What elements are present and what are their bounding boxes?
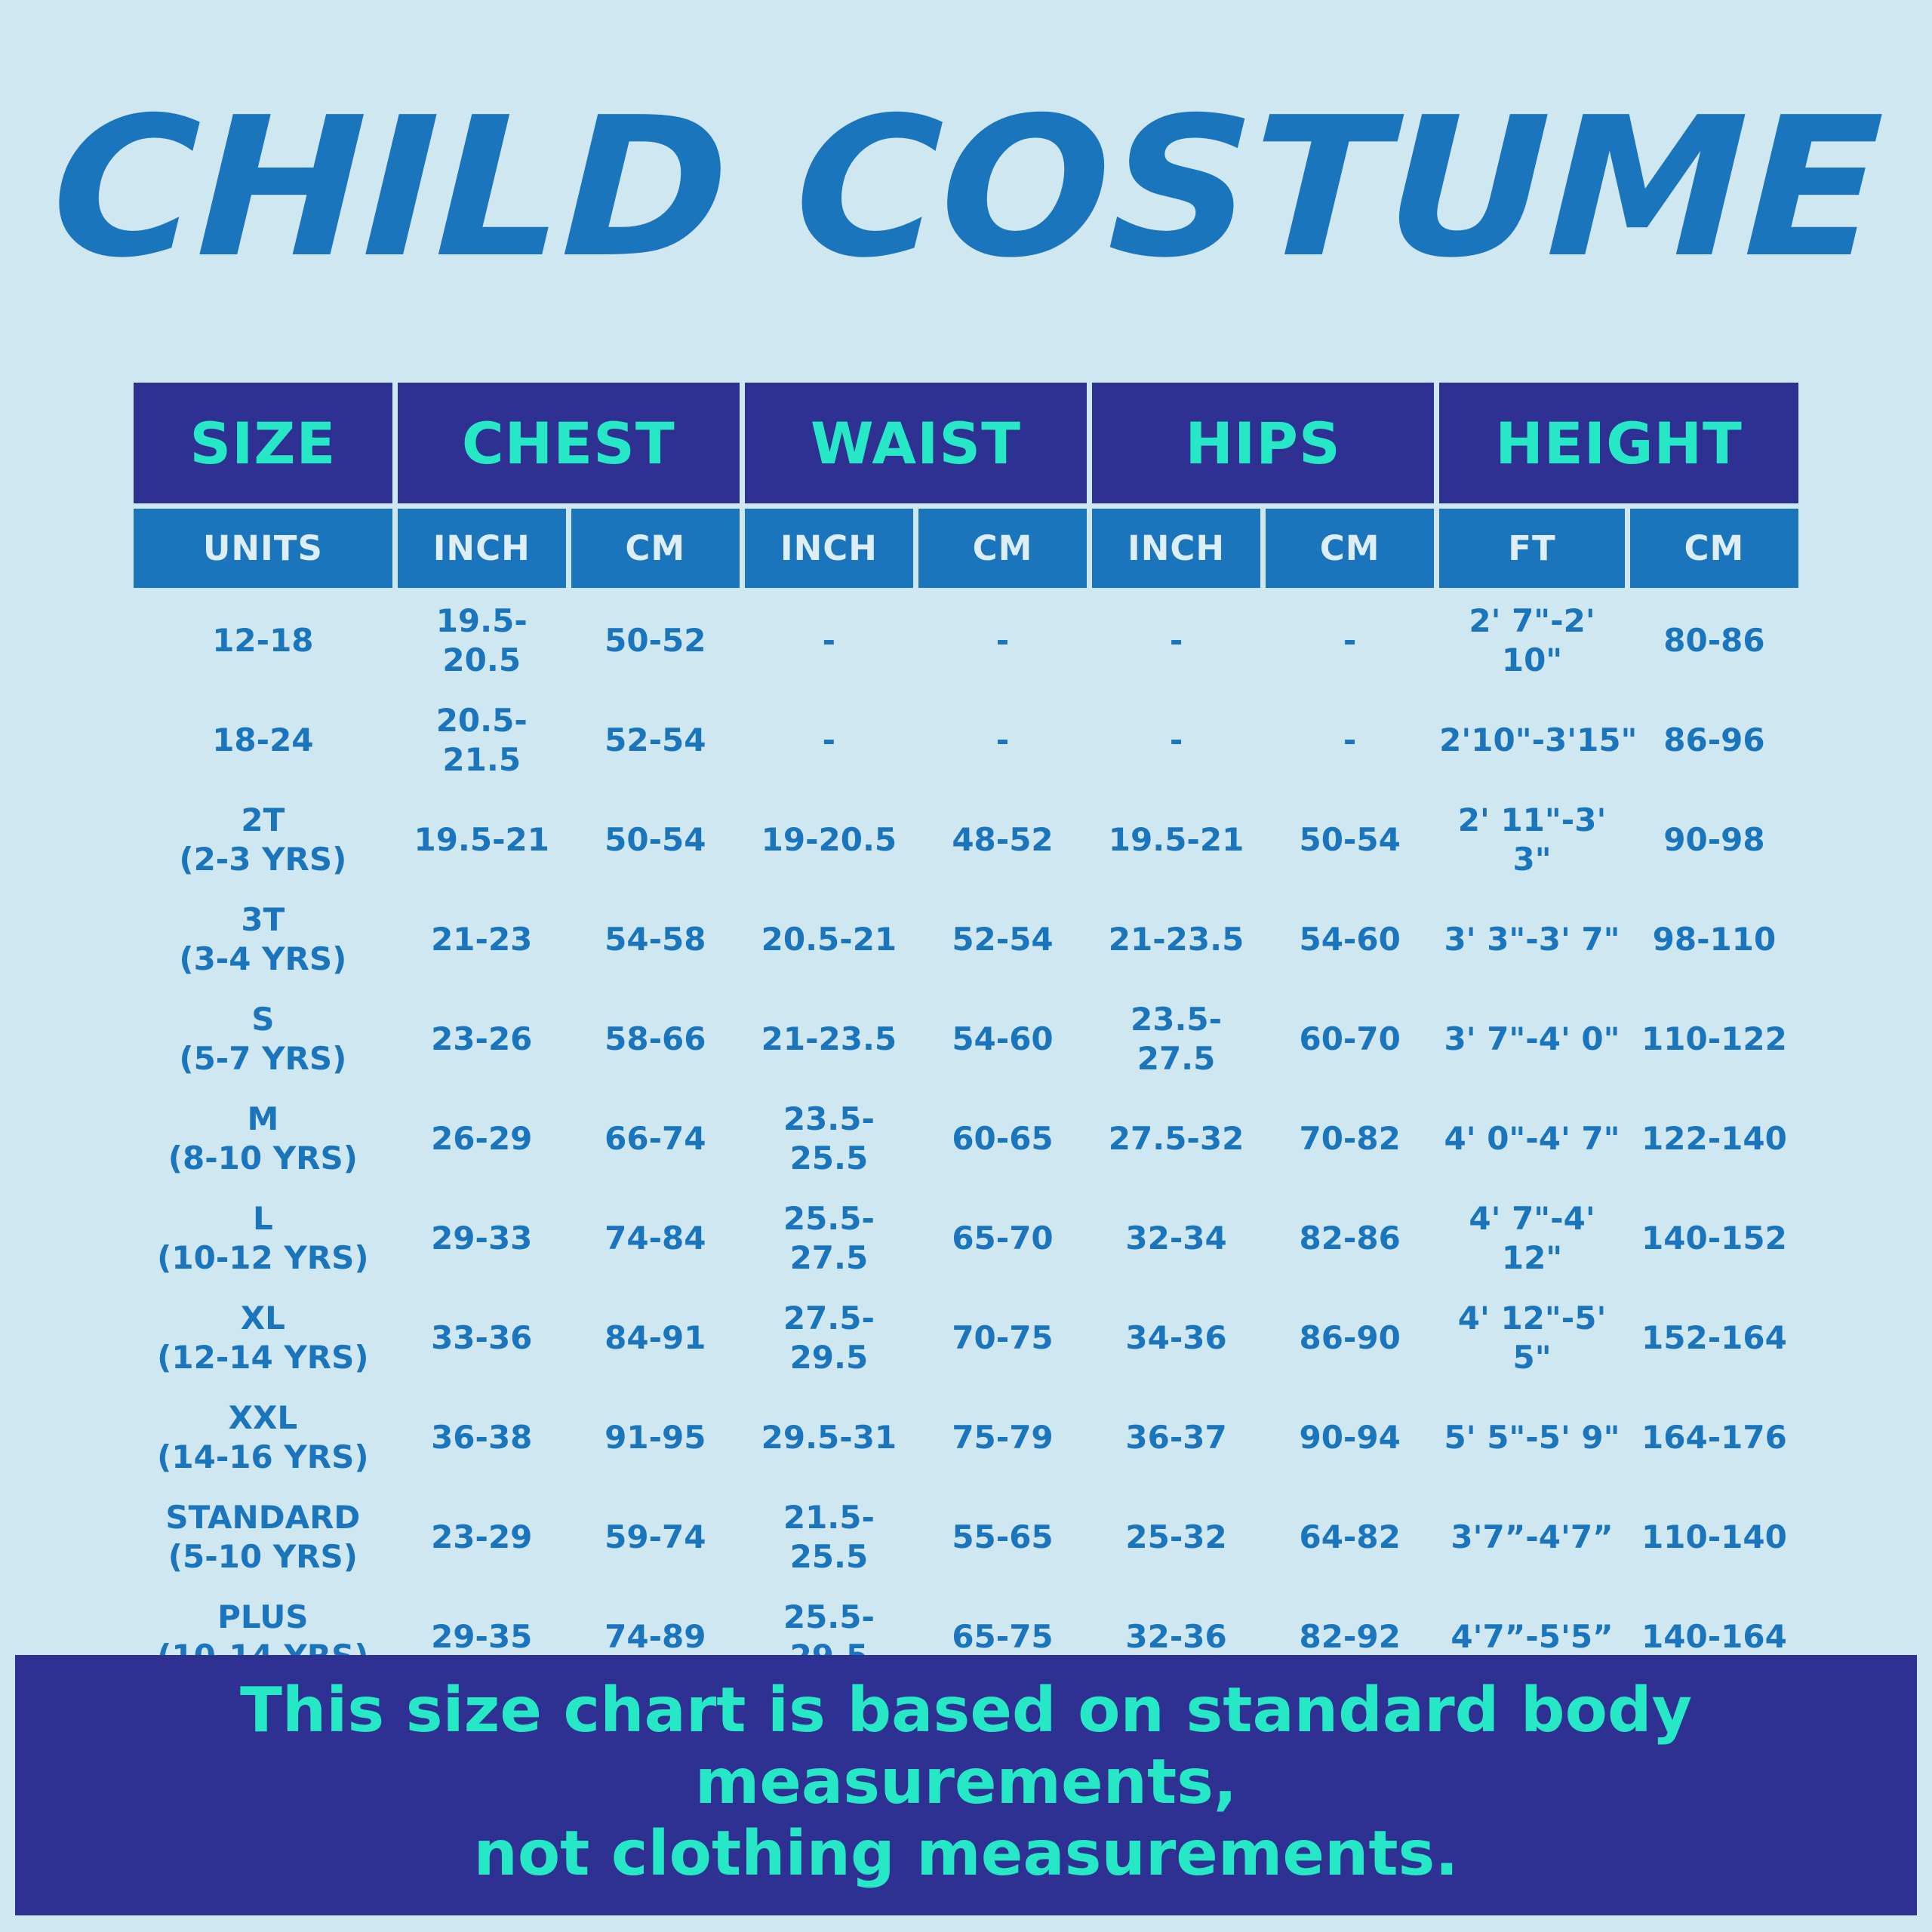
table-row: STANDARD(5-10 YRS)23-2959-7421.5-25.555-… bbox=[134, 1490, 1798, 1584]
cell-waist-inch: - bbox=[745, 693, 913, 787]
table-row: 3T(3-4 YRS)21-2354-5820.5-2152-5421-23.5… bbox=[134, 892, 1798, 986]
unit-header-height-ft: FT bbox=[1439, 509, 1625, 588]
cell-hips-cm: 60-70 bbox=[1266, 992, 1434, 1086]
cell-chest-cm: 91-95 bbox=[571, 1390, 740, 1484]
row-size-label: S(5-7 YRS) bbox=[134, 992, 392, 1086]
size-age-range: (12-14 YRS) bbox=[134, 1338, 392, 1377]
page-title: CHILD COSTUME bbox=[49, 100, 1884, 278]
size-age-range: (8-10 YRS) bbox=[134, 1139, 392, 1177]
cell-height-ft: 5' 5"-5' 9" bbox=[1439, 1390, 1625, 1484]
cell-chest-cm: 84-91 bbox=[571, 1291, 740, 1385]
cell-chest-cm: 50-54 bbox=[571, 792, 740, 887]
cell-height-cm: 110-140 bbox=[1630, 1490, 1798, 1584]
cell-height-cm: 110-122 bbox=[1630, 992, 1798, 1086]
size-name: 12-18 bbox=[134, 621, 392, 660]
cell-hips-inch: 23.5-27.5 bbox=[1092, 992, 1260, 1086]
cell-height-ft: 4' 0"-4' 7" bbox=[1439, 1091, 1625, 1186]
table-row: 12-1819.5-20.550-52----2' 7"-2' 10"80-86 bbox=[134, 593, 1798, 688]
cell-height-ft: 2' 11"-3' 3" bbox=[1439, 792, 1625, 887]
cell-height-cm: 122-140 bbox=[1630, 1091, 1798, 1186]
size-name: XXL bbox=[134, 1398, 392, 1437]
cell-hips-cm: 50-54 bbox=[1266, 792, 1434, 887]
cell-waist-inch: 27.5-29.5 bbox=[745, 1291, 913, 1385]
group-header-waist: WAIST bbox=[745, 383, 1087, 503]
cell-chest-inch: 26-29 bbox=[398, 1091, 566, 1186]
table-row: M(8-10 YRS)26-2966-7423.5-25.560-6527.5-… bbox=[134, 1091, 1798, 1186]
row-size-label: XXL(14-16 YRS) bbox=[134, 1390, 392, 1484]
size-name: S bbox=[134, 1000, 392, 1038]
row-size-label: XL(12-14 YRS) bbox=[134, 1291, 392, 1385]
cell-hips-inch: 21-23.5 bbox=[1092, 892, 1260, 986]
cell-waist-inch: 29.5-31 bbox=[745, 1390, 913, 1484]
cell-hips-cm: 86-90 bbox=[1266, 1291, 1434, 1385]
size-age-range: (5-10 YRS) bbox=[134, 1537, 392, 1576]
table-row: L(10-12 YRS)29-3374-8425.5-27.565-7032-3… bbox=[134, 1191, 1798, 1285]
cell-waist-cm: 60-65 bbox=[918, 1091, 1087, 1186]
row-size-label: L(10-12 YRS) bbox=[134, 1191, 392, 1285]
unit-header-chest-inch: INCH bbox=[398, 509, 566, 588]
cell-hips-cm: 54-60 bbox=[1266, 892, 1434, 986]
cell-height-ft: 3' 7"-4' 0" bbox=[1439, 992, 1625, 1086]
size-chart-body: 12-1819.5-20.550-52----2' 7"-2' 10"80-86… bbox=[134, 593, 1798, 1684]
cell-hips-cm: 70-82 bbox=[1266, 1091, 1434, 1186]
cell-height-ft: 4' 7"-4' 12" bbox=[1439, 1191, 1625, 1285]
size-chart-table: SIZE CHEST WAIST HIPS HEIGHT UNITS INCH … bbox=[128, 377, 1804, 1689]
cell-hips-inch: 25-32 bbox=[1092, 1490, 1260, 1584]
size-age-range: (2-3 YRS) bbox=[134, 840, 392, 878]
cell-chest-inch: 29-33 bbox=[398, 1191, 566, 1285]
table-row: S(5-7 YRS)23-2658-6621-23.554-6023.5-27.… bbox=[134, 992, 1798, 1086]
row-size-label: 18-24 bbox=[134, 693, 392, 787]
size-name: M bbox=[134, 1100, 392, 1138]
cell-chest-cm: 59-74 bbox=[571, 1490, 740, 1584]
unit-header-waist-cm: CM bbox=[918, 509, 1087, 588]
cell-height-cm: 152-164 bbox=[1630, 1291, 1798, 1385]
cell-hips-inch: - bbox=[1092, 593, 1260, 688]
row-size-label: 3T(3-4 YRS) bbox=[134, 892, 392, 986]
size-name: 3T bbox=[134, 900, 392, 939]
cell-hips-inch: 19.5-21 bbox=[1092, 792, 1260, 887]
table-row: 2T(2-3 YRS)19.5-2150-5419-20.548-5219.5-… bbox=[134, 792, 1798, 887]
cell-waist-inch: 21-23.5 bbox=[745, 992, 913, 1086]
cell-chest-cm: 52-54 bbox=[571, 693, 740, 787]
cell-waist-cm: 55-65 bbox=[918, 1490, 1087, 1584]
cell-height-ft: 3' 3"-3' 7" bbox=[1439, 892, 1625, 986]
group-header-height: HEIGHT bbox=[1439, 383, 1798, 503]
cell-waist-cm: 65-70 bbox=[918, 1191, 1087, 1285]
cell-hips-cm: - bbox=[1266, 593, 1434, 688]
size-name: PLUS bbox=[134, 1598, 392, 1636]
cell-chest-inch: 19.5-21 bbox=[398, 792, 566, 887]
size-age-range: (5-7 YRS) bbox=[134, 1039, 392, 1078]
row-size-label: M(8-10 YRS) bbox=[134, 1091, 392, 1186]
cell-hips-inch: 27.5-32 bbox=[1092, 1091, 1260, 1186]
cell-waist-cm: - bbox=[918, 693, 1087, 787]
size-name: STANDARD bbox=[134, 1498, 392, 1537]
size-chart-container: SIZE CHEST WAIST HIPS HEIGHT UNITS INCH … bbox=[0, 377, 1932, 1689]
size-name: XL bbox=[134, 1299, 392, 1337]
group-header-size: SIZE bbox=[134, 383, 392, 503]
row-size-label: STANDARD(5-10 YRS) bbox=[134, 1490, 392, 1584]
size-name: 18-24 bbox=[134, 721, 392, 759]
cell-chest-inch: 21-23 bbox=[398, 892, 566, 986]
size-age-range: (3-4 YRS) bbox=[134, 940, 392, 978]
cell-waist-inch: 23.5-25.5 bbox=[745, 1091, 913, 1186]
row-size-label: 2T(2-3 YRS) bbox=[134, 792, 392, 887]
cell-hips-inch: - bbox=[1092, 693, 1260, 787]
cell-hips-cm: - bbox=[1266, 693, 1434, 787]
cell-height-cm: 90-98 bbox=[1630, 792, 1798, 887]
table-row: 18-2420.5-21.552-54----2'10"-3'15"86-96 bbox=[134, 693, 1798, 787]
cell-hips-cm: 82-86 bbox=[1266, 1191, 1434, 1285]
size-name: L bbox=[134, 1199, 392, 1238]
cell-waist-cm: 75-79 bbox=[918, 1390, 1087, 1484]
cell-waist-cm: 70-75 bbox=[918, 1291, 1087, 1385]
group-header-chest: CHEST bbox=[398, 383, 740, 503]
size-name: 2T bbox=[134, 801, 392, 839]
cell-waist-cm: 52-54 bbox=[918, 892, 1087, 986]
cell-height-ft: 4' 12"-5' 5" bbox=[1439, 1291, 1625, 1385]
cell-chest-cm: 58-66 bbox=[571, 992, 740, 1086]
row-size-label: 12-18 bbox=[134, 593, 392, 688]
cell-chest-inch: 36-38 bbox=[398, 1390, 566, 1484]
cell-chest-inch: 19.5-20.5 bbox=[398, 593, 566, 688]
cell-height-cm: 164-176 bbox=[1630, 1390, 1798, 1484]
cell-chest-cm: 66-74 bbox=[571, 1091, 740, 1186]
group-header-hips: HIPS bbox=[1092, 383, 1434, 503]
unit-header-waist-inch: INCH bbox=[745, 509, 913, 588]
cell-hips-cm: 64-82 bbox=[1266, 1490, 1434, 1584]
unit-header-chest-cm: CM bbox=[571, 509, 740, 588]
title-area: CHILD COSTUME bbox=[0, 0, 1932, 377]
cell-waist-cm: - bbox=[918, 593, 1087, 688]
cell-waist-inch: 21.5-25.5 bbox=[745, 1490, 913, 1584]
cell-chest-inch: 33-36 bbox=[398, 1291, 566, 1385]
footer-note-line-1: This size chart is based on standard bod… bbox=[45, 1675, 1887, 1818]
footer-note-line-2: not clothing measurements. bbox=[45, 1818, 1887, 1890]
cell-height-ft: 2' 7"-2' 10" bbox=[1439, 593, 1625, 688]
cell-height-ft: 3'7”-4'7” bbox=[1439, 1490, 1625, 1584]
cell-chest-cm: 74-84 bbox=[571, 1191, 740, 1285]
cell-height-cm: 140-152 bbox=[1630, 1191, 1798, 1285]
cell-chest-inch: 23-26 bbox=[398, 992, 566, 1086]
cell-waist-inch: - bbox=[745, 593, 913, 688]
cell-chest-cm: 54-58 bbox=[571, 892, 740, 986]
cell-waist-inch: 19-20.5 bbox=[745, 792, 913, 887]
size-age-range: (14-16 YRS) bbox=[134, 1438, 392, 1476]
footer-note-banner: This size chart is based on standard bod… bbox=[15, 1655, 1917, 1915]
cell-height-ft: 2'10"-3'15" bbox=[1439, 693, 1625, 787]
cell-height-cm: 98-110 bbox=[1630, 892, 1798, 986]
unit-header-row: UNITS INCH CM INCH CM INCH CM FT CM bbox=[134, 509, 1798, 588]
cell-hips-cm: 90-94 bbox=[1266, 1390, 1434, 1484]
group-header-row: SIZE CHEST WAIST HIPS HEIGHT bbox=[134, 383, 1798, 503]
cell-waist-inch: 25.5-27.5 bbox=[745, 1191, 913, 1285]
cell-waist-cm: 48-52 bbox=[918, 792, 1087, 887]
unit-header-hips-inch: INCH bbox=[1092, 509, 1260, 588]
cell-hips-inch: 32-34 bbox=[1092, 1191, 1260, 1285]
cell-height-cm: 86-96 bbox=[1630, 693, 1798, 787]
table-row: XXL(14-16 YRS)36-3891-9529.5-3175-7936-3… bbox=[134, 1390, 1798, 1484]
cell-chest-cm: 50-52 bbox=[571, 593, 740, 688]
unit-header-height-cm: CM bbox=[1630, 509, 1798, 588]
size-age-range: (10-12 YRS) bbox=[134, 1238, 392, 1277]
cell-waist-cm: 54-60 bbox=[918, 992, 1087, 1086]
cell-hips-inch: 36-37 bbox=[1092, 1390, 1260, 1484]
cell-chest-inch: 20.5-21.5 bbox=[398, 693, 566, 787]
cell-chest-inch: 23-29 bbox=[398, 1490, 566, 1584]
unit-header-hips-cm: CM bbox=[1266, 509, 1434, 588]
unit-header-units: UNITS bbox=[134, 509, 392, 588]
cell-height-cm: 80-86 bbox=[1630, 593, 1798, 688]
table-row: XL(12-14 YRS)33-3684-9127.5-29.570-7534-… bbox=[134, 1291, 1798, 1385]
cell-hips-inch: 34-36 bbox=[1092, 1291, 1260, 1385]
cell-waist-inch: 20.5-21 bbox=[745, 892, 913, 986]
